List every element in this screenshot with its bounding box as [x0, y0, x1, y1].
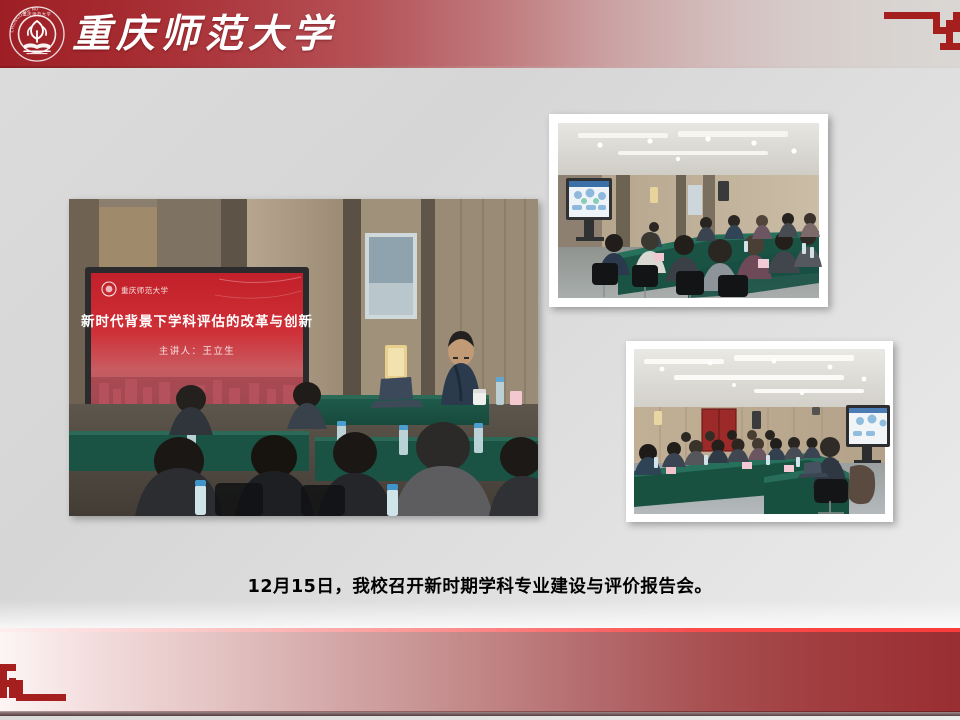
slide-caption: 12月15日，我校召开新时期学科专业建设与评价报告会。: [0, 573, 960, 598]
svg-text:CHONGQING NORMAL UNIVERSITY: CHONGQING NORMAL UNIVERSITY: [8, 5, 39, 33]
photo-meeting-room[interactable]: [626, 341, 893, 522]
svg-text:重庆师范大学: 重庆师范大学: [121, 285, 168, 295]
university-logo-icon: CHONGQING NORMAL UNIVERSITY 重庆师范大学: [8, 5, 66, 63]
svg-text:新时代背景下学科评估的改革与创新: 新时代背景下学科评估的改革与创新: [81, 313, 313, 330]
school-name: 重庆师范大学: [72, 3, 336, 65]
photo-main-lecture[interactable]: 重庆师范大学 新时代背景下学科评估的改革与创新 主讲人：王立生: [69, 199, 538, 516]
footer-shadow: [0, 711, 960, 716]
photo-meeting-room-image: [626, 341, 893, 522]
photo-audience[interactable]: [549, 114, 828, 307]
footer-band: [0, 628, 960, 716]
footer-top-fade: [0, 600, 960, 630]
footer-fill: [0, 632, 960, 712]
header-band: CHONGQING NORMAL UNIVERSITY 重庆师范大学 重庆师范大…: [0, 0, 960, 68]
corner-ornament-bottom-left-icon: [0, 658, 80, 710]
photo-audience-image: [549, 114, 828, 307]
svg-text:主讲人：王立生: 主讲人：王立生: [159, 345, 235, 357]
photo-main-lecture-image: 重庆师范大学 新时代背景下学科评估的改革与创新 主讲人：王立生: [69, 199, 538, 516]
svg-text:重庆师范大学: 重庆师范大学: [23, 10, 52, 17]
corner-ornament-top-right-icon: [880, 10, 960, 62]
presentation-slide: 重庆师范大学 新时代背景下学科评估的改革与创新 主讲人：王立生: [0, 0, 960, 720]
